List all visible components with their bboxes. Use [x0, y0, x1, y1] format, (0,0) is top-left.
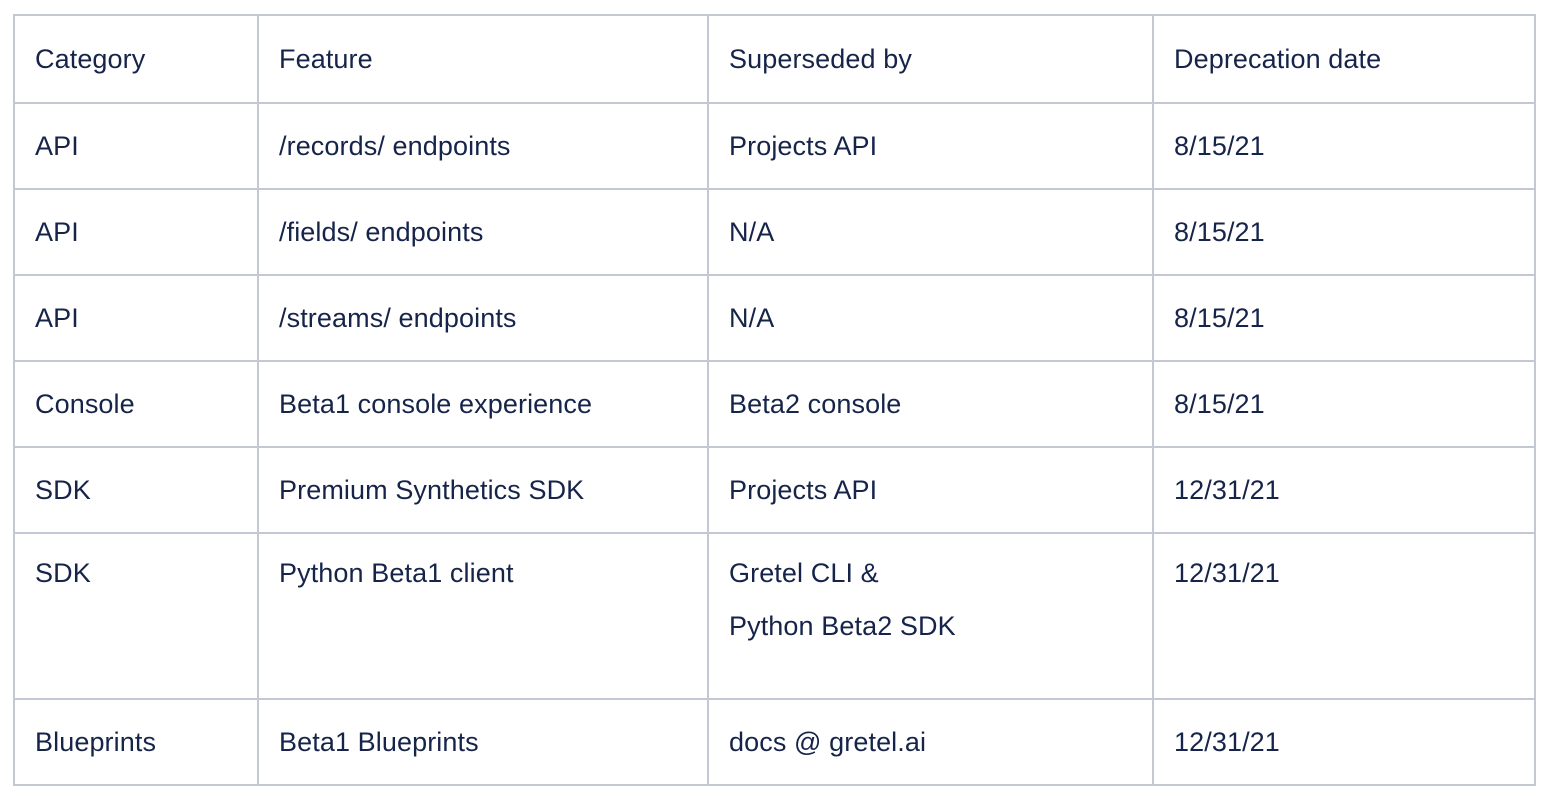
cell-deprecation-date: 8/15/21 — [1153, 103, 1535, 189]
cell-deprecation-date: 8/15/21 — [1153, 361, 1535, 447]
table-row: API /records/ endpoints Projects API 8/1… — [14, 103, 1535, 189]
cell-feature: Premium Synthetics SDK — [258, 447, 708, 533]
cell-superseded-by: Projects API — [708, 447, 1153, 533]
cell-category: Blueprints — [14, 699, 258, 785]
table-row: Blueprints Beta1 Blueprints docs @ grete… — [14, 699, 1535, 785]
table-header-row: Category Feature Superseded by Deprecati… — [14, 15, 1535, 103]
table-row: SDK Premium Synthetics SDK Projects API … — [14, 447, 1535, 533]
cell-deprecation-date: 8/15/21 — [1153, 189, 1535, 275]
table-header: Category Feature Superseded by Deprecati… — [14, 15, 1535, 103]
cell-category: API — [14, 103, 258, 189]
cell-superseded-by: docs @ gretel.ai — [708, 699, 1153, 785]
cell-feature: Beta1 Blueprints — [258, 699, 708, 785]
column-header-superseded-by: Superseded by — [708, 15, 1153, 103]
cell-superseded-by: N/A — [708, 275, 1153, 361]
cell-superseded-by: Projects API — [708, 103, 1153, 189]
cell-feature: Beta1 console experience — [258, 361, 708, 447]
cell-category: API — [14, 189, 258, 275]
cell-superseded-by-line-2: Python Beta2 SDK — [729, 613, 1132, 640]
cell-category: SDK — [14, 533, 258, 699]
cell-category: API — [14, 275, 258, 361]
deprecation-schedule-table: Category Feature Superseded by Deprecati… — [13, 14, 1536, 786]
cell-deprecation-date: 12/31/21 — [1153, 533, 1535, 699]
cell-superseded-by-line-1: Gretel CLI & — [729, 560, 1132, 587]
column-header-category: Category — [14, 15, 258, 103]
deprecation-table-wrapper: Category Feature Superseded by Deprecati… — [13, 14, 1534, 786]
cell-superseded-by: Gretel CLI & Python Beta2 SDK — [708, 533, 1153, 699]
column-header-feature: Feature — [258, 15, 708, 103]
cell-deprecation-date: 12/31/21 — [1153, 699, 1535, 785]
cell-deprecation-date: 8/15/21 — [1153, 275, 1535, 361]
cell-feature: /records/ endpoints — [258, 103, 708, 189]
cell-category: SDK — [14, 447, 258, 533]
table-row: API /streams/ endpoints N/A 8/15/21 — [14, 275, 1535, 361]
table-row: Console Beta1 console experience Beta2 c… — [14, 361, 1535, 447]
cell-deprecation-date: 12/31/21 — [1153, 447, 1535, 533]
column-header-deprecation-date: Deprecation date — [1153, 15, 1535, 103]
table-row: API /fields/ endpoints N/A 8/15/21 — [14, 189, 1535, 275]
table-row: SDK Python Beta1 client Gretel CLI & Pyt… — [14, 533, 1535, 699]
table-body: API /records/ endpoints Projects API 8/1… — [14, 103, 1535, 785]
cell-feature: /streams/ endpoints — [258, 275, 708, 361]
cell-superseded-by: Beta2 console — [708, 361, 1153, 447]
cell-category: Console — [14, 361, 258, 447]
cell-feature: Python Beta1 client — [258, 533, 708, 699]
cell-feature: /fields/ endpoints — [258, 189, 708, 275]
cell-superseded-by: N/A — [708, 189, 1153, 275]
